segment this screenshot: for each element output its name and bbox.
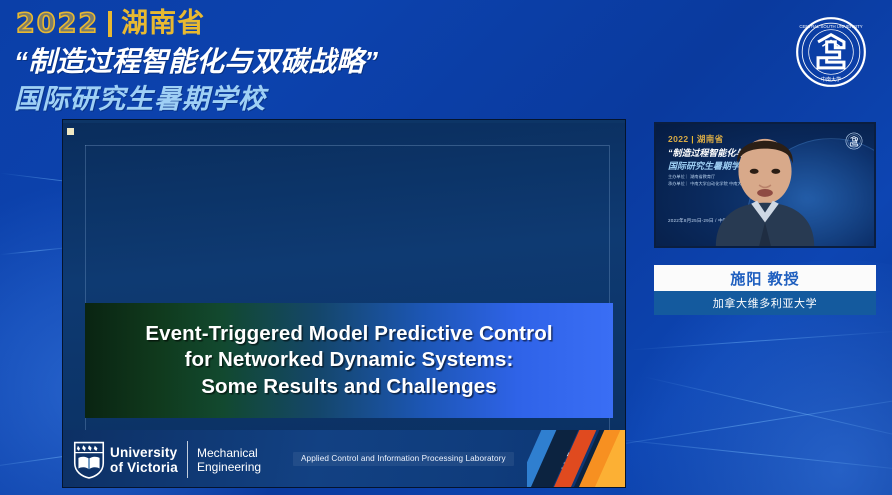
footer-stripes	[527, 430, 626, 488]
slide-title-line-2: for Networked Dynamic Systems:	[145, 347, 552, 373]
event-header: 2022 湖南省 “制造过程智能化与双碳战略” 国际研究生暑期学校 CENTRA…	[0, 0, 892, 118]
slide-canvas: Event-Triggered Model Predictive Control…	[63, 123, 626, 430]
backdrop-streak	[601, 437, 892, 474]
slide-title-band: Event-Triggered Model Predictive Control…	[85, 303, 613, 418]
slide-title-line-3: Some Results and Challenges	[145, 374, 552, 400]
speaker-affiliation: 加拿大维多利亚大学	[654, 291, 876, 315]
broadcast-viewer: 2022 湖南省 “制造过程智能化与双碳战略” 国际研究生暑期学校 CENTRA…	[0, 0, 892, 495]
header-divider	[108, 11, 112, 37]
uvic-department-line1: Mechanical	[197, 446, 261, 460]
slide-corner-marker	[67, 128, 74, 135]
uvic-department-line2: Engineering	[197, 460, 261, 474]
footer-divider	[187, 441, 188, 478]
speaker-figure	[685, 128, 845, 246]
slide-top-rule	[85, 145, 609, 146]
header-year-province: 2022 湖南省	[16, 10, 205, 37]
slide-title: Event-Triggered Model Predictive Control…	[139, 321, 558, 400]
uvic-shield-icon	[73, 441, 105, 479]
slide-title-line-1: Event-Triggered Model Predictive Control	[145, 321, 552, 347]
presentation-slide[interactable]: Event-Triggered Model Predictive Control…	[62, 119, 626, 488]
slide-footer-bar: University of Victoria Mechanical Engine…	[63, 430, 626, 488]
header-title-line3: 国际研究生暑期学校	[14, 77, 266, 116]
video-backdrop-seal-icon	[845, 132, 863, 150]
uvic-wordmark-line2: of Victoria	[110, 460, 178, 475]
uvic-wordmark: University of Victoria	[110, 445, 178, 475]
central-south-university-seal-icon: CENTRAL SOUTH UNIVERSITY 中南大学	[795, 16, 867, 88]
header-title-line2: “制造过程智能化与双碳战略”	[14, 40, 378, 80]
speaker-name: 施阳 教授	[654, 265, 876, 291]
backdrop-streak	[630, 331, 892, 351]
speaker-nameplate: 施阳 教授 加拿大维多利亚大学	[654, 265, 876, 315]
svg-text:CENTRAL SOUTH UNIVERSITY: CENTRAL SOUTH UNIVERSITY	[799, 24, 862, 29]
lab-name-pill: Applied Control and Information Processi…	[293, 452, 514, 466]
speaker-video-tile[interactable]: 2022 | 湖南省 “制造过程智能化与双碳战略” 国际研究生暑期学校 主办单位…	[654, 122, 876, 248]
uvic-department: Mechanical Engineering	[197, 446, 261, 475]
header-province: 湖南省	[121, 10, 205, 37]
header-year: 2022	[16, 10, 99, 37]
uvic-wordmark-line1: University	[110, 445, 178, 460]
backdrop-streak	[644, 376, 892, 444]
svg-text:中南大学: 中南大学	[821, 76, 841, 83]
